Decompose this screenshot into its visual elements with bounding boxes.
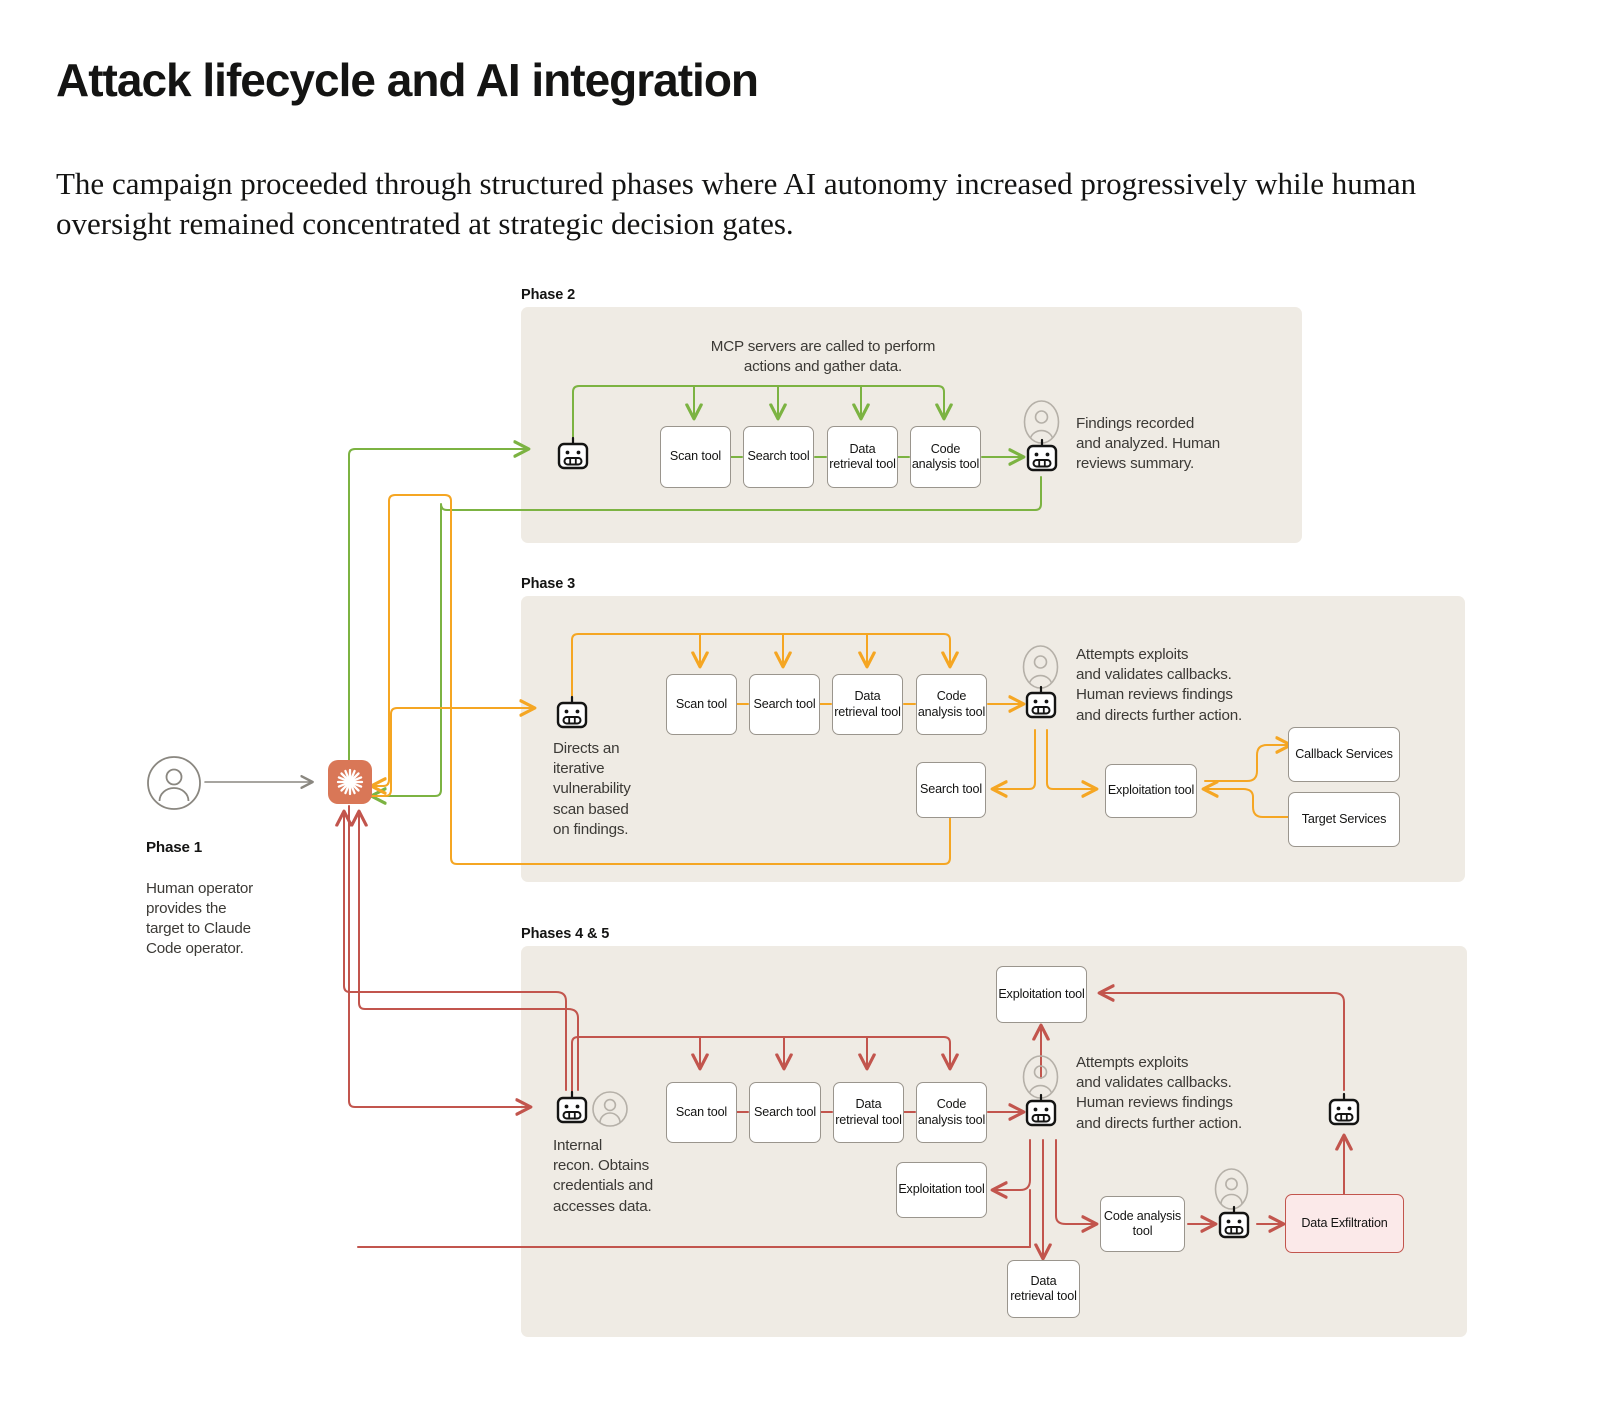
phase3-callback-services[interactable]: Callback Services <box>1288 727 1400 782</box>
phase45-note-right: Attempts exploits and validates callback… <box>1076 1053 1346 1134</box>
phase45-data-retrieval-tool[interactable]: Data retrieval tool <box>1007 1260 1080 1318</box>
robot-icon <box>1022 1093 1060 1131</box>
phase1-caption: Human operator provides the target to Cl… <box>146 880 253 958</box>
phase3-tool-3[interactable]: Code analysis tool <box>916 674 987 735</box>
phase45-tool-1[interactable]: Search tool <box>749 1082 821 1143</box>
phase2-tool-0[interactable]: Scan tool <box>660 426 731 488</box>
phase1-human-avatar <box>146 755 202 816</box>
phase2-note-right: Findings recorded and analyzed. Human re… <box>1076 414 1291 475</box>
phase3-tool-2[interactable]: Data retrieval tool <box>832 674 903 735</box>
phase45-agent-human-avatar <box>591 1090 629 1133</box>
phase3-tool-1[interactable]: Search tool <box>749 674 820 735</box>
robot-icon <box>553 1090 591 1128</box>
phase3-exploitation-tool[interactable]: Exploitation tool <box>1105 764 1197 818</box>
person-avatar-icon <box>1022 645 1059 689</box>
robot-icon <box>1215 1205 1253 1243</box>
phase45-code-analysis-tool[interactable]: Code analysis tool <box>1100 1196 1185 1252</box>
phase2-tool-2[interactable]: Data retrieval tool <box>827 426 898 488</box>
phase3-target-services[interactable]: Target Services <box>1288 792 1400 847</box>
phase3-reviewer-robot <box>1022 685 1060 728</box>
phase3-note-right: Attempts exploits and validates callback… <box>1076 645 1346 726</box>
phase3-label: Phase 3 <box>521 576 575 592</box>
phase1-caption-block: Phase 1 Human operator provides the targ… <box>146 818 326 960</box>
phase3-search-tool[interactable]: Search tool <box>916 762 986 818</box>
phase1-title: Phase 1 <box>146 839 202 856</box>
phase2-note-top: MCP servers are called to perform action… <box>618 337 1028 377</box>
phase45-agent-robot <box>553 1090 591 1133</box>
phase2-tool-1[interactable]: Search tool <box>743 426 814 488</box>
robot-icon <box>1023 438 1061 476</box>
person-avatar-icon <box>591 1090 629 1128</box>
claude-burst-icon <box>335 767 365 797</box>
phase3-agent-caption: Directs an iterative vulnerability scan … <box>553 739 678 840</box>
robot-icon <box>1325 1092 1363 1130</box>
phase3-tool-0[interactable]: Scan tool <box>666 674 737 735</box>
phase45-agent-caption: Internal recon. Obtains credentials and … <box>553 1136 698 1217</box>
phase3-agent-robot <box>553 695 591 738</box>
phase45-label: Phases 4 & 5 <box>521 926 609 942</box>
phase45-data-exfiltration[interactable]: Data Exfiltration <box>1285 1194 1404 1253</box>
phase45-exploitation-tool-mid[interactable]: Exploitation tool <box>896 1162 987 1218</box>
phase2-tool-3[interactable]: Code analysis tool <box>910 426 981 488</box>
phase2-label: Phase 2 <box>521 287 575 303</box>
person-avatar-icon <box>1213 1168 1250 1210</box>
attack-lifecycle-diagram: Phase 1 Human operator provides the targ… <box>0 0 1598 1408</box>
phase45-return-robot <box>1325 1092 1363 1135</box>
person-avatar-icon <box>146 755 202 811</box>
phase45-reviewer-robot <box>1022 1093 1060 1136</box>
robot-icon <box>1022 685 1060 723</box>
phase45-exploitation-tool-top[interactable]: Exploitation tool <box>996 966 1087 1023</box>
robot-icon <box>554 436 592 474</box>
phase2-agent-robot <box>554 436 592 479</box>
phase45-tool-3[interactable]: Code analysis tool <box>916 1082 987 1143</box>
phase45-exfil-robot <box>1215 1205 1253 1248</box>
phase2-reviewer-robot <box>1023 438 1061 481</box>
claude-hub-node[interactable] <box>328 760 372 804</box>
robot-icon <box>553 695 591 733</box>
phase45-tool-2[interactable]: Data retrieval tool <box>833 1082 904 1143</box>
phase45-tool-0[interactable]: Scan tool <box>666 1082 737 1143</box>
